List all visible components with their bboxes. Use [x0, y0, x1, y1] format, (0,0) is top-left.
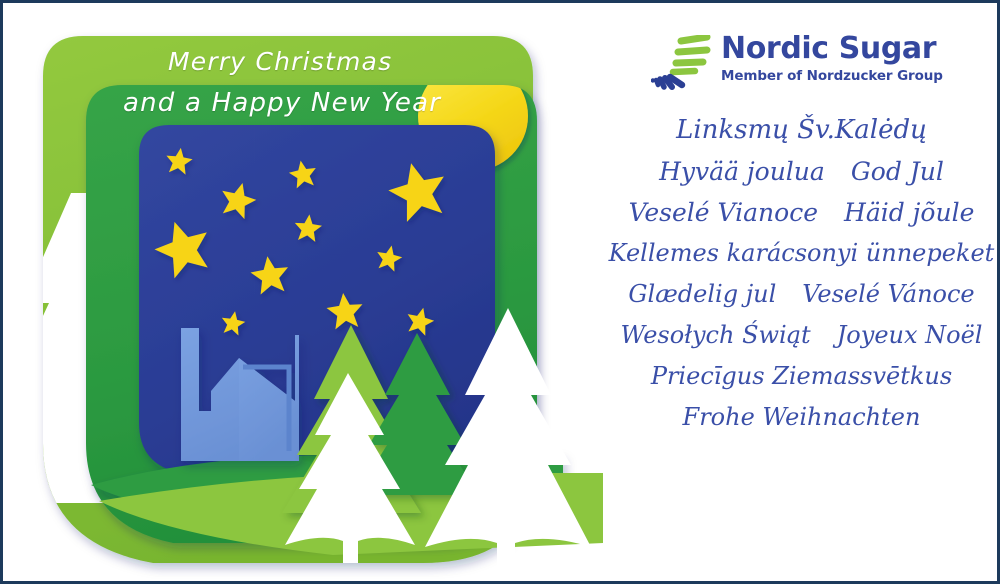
greeting-row: Glædelig jul Veselé Vánoce — [603, 280, 1000, 321]
greeting-sk: Veselé Vianoce — [629, 198, 818, 227]
greeting-row: Hyvää joulua God Jul — [603, 157, 1000, 198]
greeting-row: Veselé Vianoce Häid jõule — [603, 198, 1000, 239]
right-panel: Nordic Sugar Member of Nordzucker Group … — [603, 3, 1000, 581]
paper-cut-scene-svg — [3, 3, 603, 584]
brand-name: Nordic Sugar — [721, 33, 943, 65]
greeting-lv: Priecīgus Ziemassvētkus — [651, 362, 952, 390]
greeting-lt: Linksmų Šv.Kalėdų — [676, 115, 927, 145]
greeting-cs: Veselé Vánoce — [802, 280, 974, 308]
greeting-et: Häid jõule — [844, 198, 974, 227]
illustration-panel: Merry Christmas and a Happy New Year — [3, 3, 603, 584]
nordic-sugar-burst-icon — [651, 35, 713, 91]
greeting-de: Frohe Weihnachten — [683, 403, 921, 431]
greeting-row: Kellemes karácsonyi ünnepeket — [603, 239, 1000, 280]
brand-logo: Nordic Sugar Member of Nordzucker Group — [651, 31, 943, 91]
brand-tagline: Member of Nordzucker Group — [721, 68, 943, 84]
greeting-row: Wesołych Świąt Joyeux Noël — [603, 321, 1000, 362]
multilingual-greetings: Linksmų Šv.Kalėdų Hyvää joulua God Jul V… — [603, 115, 1000, 444]
greeting-fr: Joyeux Noël — [837, 321, 983, 349]
brand-wordmark: Nordic Sugar Member of Nordzucker Group — [721, 31, 943, 84]
greeting-da: Glædelig jul — [628, 280, 776, 308]
greeting-row: Frohe Weihnachten — [603, 403, 1000, 444]
greeting-pl: Wesołych Świąt — [621, 321, 811, 349]
greeting-row: Linksmų Šv.Kalėdų — [603, 115, 1000, 157]
greeting-sv: God Jul — [851, 157, 944, 186]
greeting-fi: Hyvää joulua — [659, 157, 825, 186]
greeting-row: Priecīgus Ziemassvētkus — [603, 362, 1000, 403]
christmas-card: Merry Christmas and a Happy New Year — [0, 0, 1000, 584]
greeting-hu: Kellemes karácsonyi ünnepeket — [609, 239, 995, 267]
